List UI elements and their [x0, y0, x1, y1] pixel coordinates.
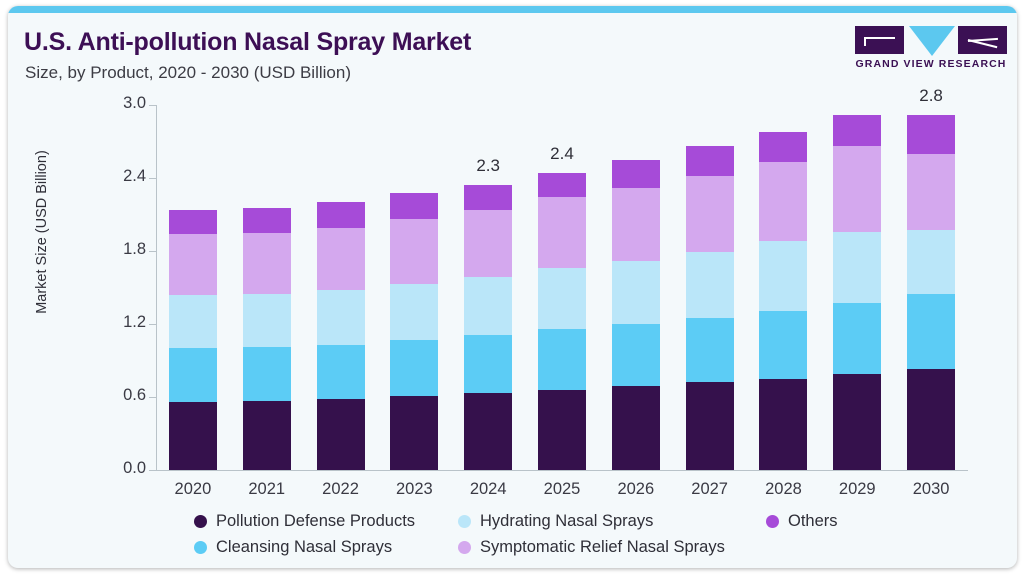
- bar-segment[interactable]: [464, 277, 512, 335]
- y-axis-tick-label: 1.8: [94, 240, 146, 259]
- x-axis-tick-label: 2021: [230, 480, 304, 499]
- bar-segment[interactable]: [390, 396, 438, 470]
- bar-segment[interactable]: [390, 284, 438, 340]
- legend-item[interactable]: Symptomatic Relief Nasal Sprays: [458, 538, 725, 557]
- legend-color-swatch-icon: [766, 515, 779, 528]
- bar-value-label: 2.4: [527, 144, 597, 164]
- bar-segment[interactable]: [612, 386, 660, 470]
- legend-item[interactable]: Cleansing Nasal Sprays: [194, 538, 392, 557]
- bar-segment[interactable]: [243, 233, 291, 294]
- bar-segment[interactable]: [317, 290, 365, 345]
- bar-stack[interactable]: [243, 208, 291, 470]
- bar-segment[interactable]: [907, 154, 955, 231]
- legend-label: Cleansing Nasal Sprays: [216, 538, 392, 557]
- bar-segment[interactable]: [390, 193, 438, 220]
- x-axis-tick-label: 2030: [894, 480, 968, 499]
- bar-stack[interactable]: [907, 115, 955, 470]
- bar-segment[interactable]: [169, 402, 217, 470]
- legend-label: Symptomatic Relief Nasal Sprays: [480, 538, 725, 557]
- bar-segment[interactable]: [759, 241, 807, 310]
- bar-stack[interactable]: [686, 146, 734, 470]
- bar-segment[interactable]: [833, 146, 881, 231]
- y-axis-tick-label: 0.6: [94, 386, 146, 405]
- bar-segment[interactable]: [243, 208, 291, 232]
- bar-segment[interactable]: [833, 374, 881, 470]
- y-axis-tick-mark: [149, 105, 156, 106]
- y-axis-tick-mark: [149, 251, 156, 252]
- bar-segment[interactable]: [907, 294, 955, 369]
- legend-color-swatch-icon: [194, 515, 207, 528]
- bar-segment[interactable]: [538, 268, 586, 329]
- y-axis-tick-mark: [149, 178, 156, 179]
- bar-stack[interactable]: [169, 210, 217, 470]
- bar-segment[interactable]: [686, 146, 734, 175]
- chart-card: U.S. Anti-pollution Nasal Spray Market S…: [8, 6, 1017, 568]
- bar-segment[interactable]: [169, 234, 217, 295]
- bar-segment[interactable]: [759, 132, 807, 162]
- bar-segment[interactable]: [317, 202, 365, 228]
- y-axis-line: [156, 105, 157, 471]
- bar-segment[interactable]: [464, 393, 512, 470]
- y-axis-tick-label: 0.0: [94, 459, 146, 478]
- bar-segment[interactable]: [538, 173, 586, 197]
- y-axis-tick-label: 1.2: [94, 313, 146, 332]
- x-axis-tick-label: 2027: [673, 480, 747, 499]
- bar-segment[interactable]: [833, 303, 881, 374]
- bar-segment[interactable]: [243, 401, 291, 470]
- x-axis-line: [156, 470, 968, 471]
- bar-segment[interactable]: [169, 295, 217, 349]
- x-axis-tick-label: 2024: [451, 480, 525, 499]
- bar-segment[interactable]: [759, 311, 807, 379]
- bar-segment[interactable]: [317, 228, 365, 290]
- bar-segment[interactable]: [390, 219, 438, 283]
- bar-segment[interactable]: [538, 329, 586, 390]
- legend-item[interactable]: Others: [766, 512, 838, 531]
- x-axis-tick-label: 2028: [746, 480, 820, 499]
- bar-stack[interactable]: [390, 193, 438, 470]
- bar-segment[interactable]: [243, 347, 291, 401]
- bar-segment[interactable]: [833, 232, 881, 304]
- y-axis-tick-mark: [149, 324, 156, 325]
- bar-segment[interactable]: [538, 197, 586, 268]
- bar-segment[interactable]: [317, 399, 365, 470]
- x-axis-tick-label: 2026: [599, 480, 673, 499]
- bar-segment[interactable]: [759, 162, 807, 241]
- stacked-bar-chart: Market Size (USD Billion) 0.00.61.21.82.…: [8, 6, 1017, 568]
- bar-value-label: 2.3: [453, 156, 523, 176]
- legend-label: Others: [788, 512, 838, 531]
- bar-segment[interactable]: [612, 160, 660, 188]
- bar-segment[interactable]: [686, 318, 734, 382]
- legend-color-swatch-icon: [458, 515, 471, 528]
- x-axis-tick-label: 2023: [377, 480, 451, 499]
- bar-stack[interactable]: [317, 202, 365, 470]
- bar-segment[interactable]: [612, 188, 660, 261]
- legend-color-swatch-icon: [458, 541, 471, 554]
- y-axis-tick-mark: [149, 397, 156, 398]
- bar-segment[interactable]: [169, 348, 217, 402]
- x-axis-tick-label: 2025: [525, 480, 599, 499]
- bar-segment[interactable]: [907, 230, 955, 293]
- bar-segment[interactable]: [686, 252, 734, 318]
- x-axis-tick-label: 2029: [820, 480, 894, 499]
- bar-value-label: 2.8: [896, 86, 966, 106]
- legend-label: Pollution Defense Products: [216, 512, 415, 531]
- bar-segment[interactable]: [907, 115, 955, 154]
- bar-stack[interactable]: [612, 160, 660, 470]
- x-axis-tick-label: 2022: [304, 480, 378, 499]
- bar-segment[interactable]: [317, 345, 365, 400]
- bar-segment[interactable]: [686, 176, 734, 253]
- legend-label: Hydrating Nasal Sprays: [480, 512, 653, 531]
- legend-item[interactable]: Pollution Defense Products: [194, 512, 415, 531]
- bar-segment[interactable]: [907, 369, 955, 470]
- y-axis-tick-label: 3.0: [94, 94, 146, 113]
- bar-segment[interactable]: [538, 390, 586, 470]
- bar-stack[interactable]: [759, 132, 807, 470]
- legend-color-swatch-icon: [194, 541, 207, 554]
- bar-segment[interactable]: [686, 382, 734, 470]
- bar-segment[interactable]: [243, 294, 291, 348]
- bar-stack[interactable]: [833, 115, 881, 470]
- bar-segment[interactable]: [759, 379, 807, 470]
- bar-segment[interactable]: [833, 115, 881, 147]
- x-axis-tick-label: 2020: [156, 480, 230, 499]
- bar-segment[interactable]: [390, 340, 438, 396]
- y-axis-tick-mark: [149, 470, 156, 471]
- bar-segment[interactable]: [464, 185, 512, 209]
- legend-item[interactable]: Hydrating Nasal Sprays: [458, 512, 653, 531]
- bar-stack[interactable]: [464, 185, 512, 470]
- bar-segment[interactable]: [464, 335, 512, 393]
- y-axis-label: Market Size (USD Billion): [34, 102, 50, 362]
- bar-segment[interactable]: [612, 261, 660, 324]
- bar-segment[interactable]: [169, 210, 217, 234]
- bar-segment[interactable]: [464, 210, 512, 277]
- y-axis-tick-label: 2.4: [94, 167, 146, 186]
- bar-stack[interactable]: [538, 173, 586, 470]
- bar-segment[interactable]: [612, 324, 660, 386]
